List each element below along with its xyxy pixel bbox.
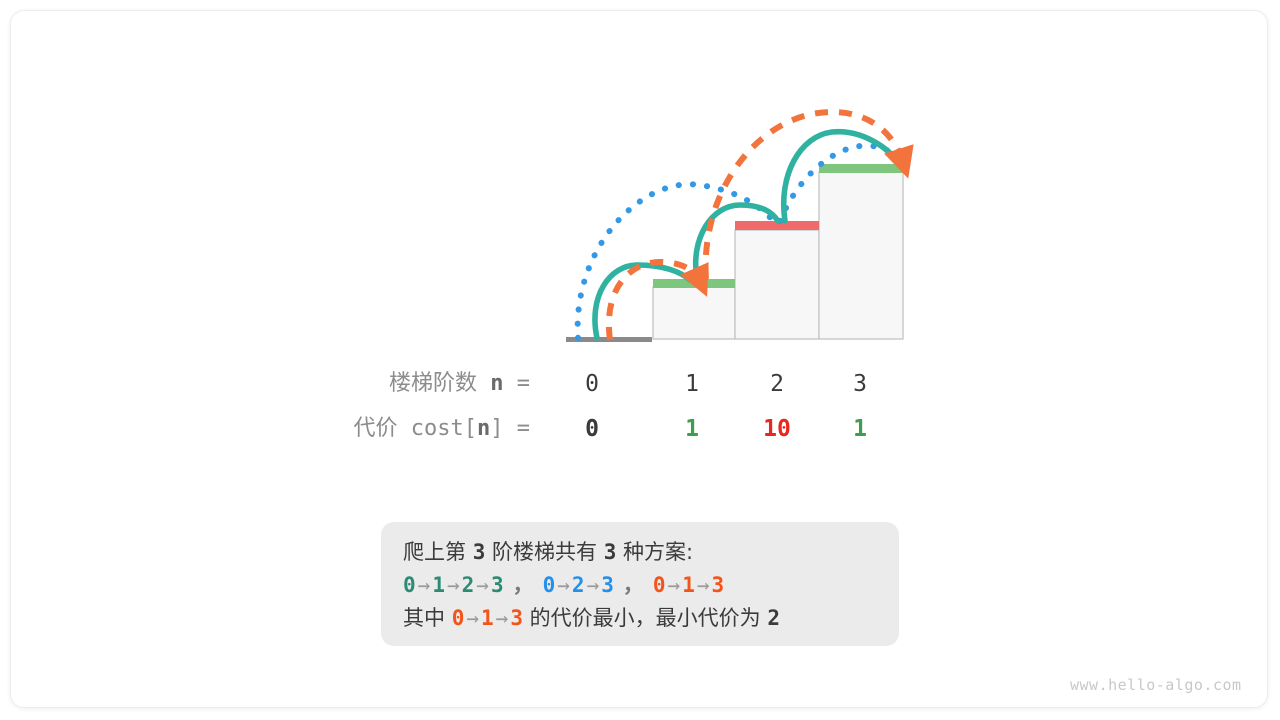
line3-path-node-0: 0 xyxy=(452,606,465,630)
step-value-3: 3 xyxy=(830,367,890,401)
line3-min-cost: 2 xyxy=(767,606,780,630)
cost-value-0: 0 xyxy=(562,412,622,446)
cost-value-2: 10 xyxy=(747,412,807,446)
path-separator-comma: ， xyxy=(614,573,653,597)
step-top-1-green xyxy=(653,279,735,288)
screenshot-canvas: 楼梯阶数 n = 代价 cost[n] = 0 1 2 3 0 1 10 1 爬… xyxy=(0,0,1280,720)
row-label-cost-prefix: 代价 cost[ xyxy=(354,416,477,441)
path-blue-node-0: 0 xyxy=(543,573,556,597)
step-top-3-green xyxy=(819,164,904,173)
path-teal-node-2: 2 xyxy=(462,573,475,597)
line1-suffix: 种方案: xyxy=(616,540,693,564)
step-value-0: 0 xyxy=(562,367,622,401)
row-label-cost-suffix: ] = xyxy=(490,416,530,441)
arrow-icon: → xyxy=(585,573,602,597)
line1-middle: 阶楼梯共有 xyxy=(485,540,603,564)
row-label-step-prefix: 楼梯阶数 xyxy=(389,371,490,396)
path-orange-node-0: 0 xyxy=(653,573,666,597)
row-label-step-var: n xyxy=(490,371,503,396)
step-block-3 xyxy=(819,172,903,339)
cost-value-1: 1 xyxy=(662,412,722,446)
arrow-icon: → xyxy=(555,573,572,597)
explanation-box: 爬上第 3 阶楼梯共有 3 种方案: 0→1→2→3，0→2→3，0→1→3 其… xyxy=(381,522,899,646)
path-teal-node-1: 1 xyxy=(432,573,445,597)
path-teal-node-3: 3 xyxy=(491,573,504,597)
path-orange-node-1: 1 xyxy=(682,573,695,597)
row-label-step-suffix: = xyxy=(504,371,531,396)
line1-step-number: 3 xyxy=(473,540,486,564)
cost-value-3: 1 xyxy=(830,412,890,446)
step-block-1 xyxy=(653,287,735,339)
line1-prefix: 爬上第 xyxy=(403,540,473,564)
arrow-icon: → xyxy=(494,606,511,630)
step-blocks xyxy=(653,172,903,339)
site-watermark: www.hello-algo.com xyxy=(1070,676,1242,694)
row-label-step-count: 楼梯阶数 n = xyxy=(250,367,530,401)
arrow-icon: → xyxy=(445,573,462,597)
arrow-icon: → xyxy=(474,573,491,597)
step-block-2 xyxy=(735,230,819,339)
step-value-2: 2 xyxy=(747,367,807,401)
line3-path-node-1: 1 xyxy=(481,606,494,630)
row-label-cost-var: n xyxy=(477,416,490,441)
step-value-1: 1 xyxy=(662,367,722,401)
arrow-icon: → xyxy=(416,573,433,597)
line3-path-node-2: 3 xyxy=(510,606,523,630)
path-blue-node-1: 2 xyxy=(572,573,585,597)
path-blue-node-2: 3 xyxy=(601,573,614,597)
line3-middle: 的代价最小，最小代价为 xyxy=(523,606,767,630)
line3-prefix: 其中 xyxy=(403,606,452,630)
row-label-cost: 代价 cost[n] = xyxy=(250,412,530,446)
arrow-icon: → xyxy=(695,573,712,597)
path-teal-node-0: 0 xyxy=(403,573,416,597)
explanation-line-3: 其中 0→1→3 的代价最小，最小代价为 2 xyxy=(403,602,899,635)
explanation-line-1: 爬上第 3 阶楼梯共有 3 种方案: xyxy=(403,536,899,569)
explanation-line-2-paths: 0→1→2→3，0→2→3，0→1→3 xyxy=(403,569,899,602)
line1-scheme-count: 3 xyxy=(604,540,617,564)
arrow-icon: → xyxy=(666,573,683,597)
path-separator-comma: ， xyxy=(504,573,543,597)
path-orange-node-2: 3 xyxy=(712,573,725,597)
arrow-icon: → xyxy=(464,606,481,630)
